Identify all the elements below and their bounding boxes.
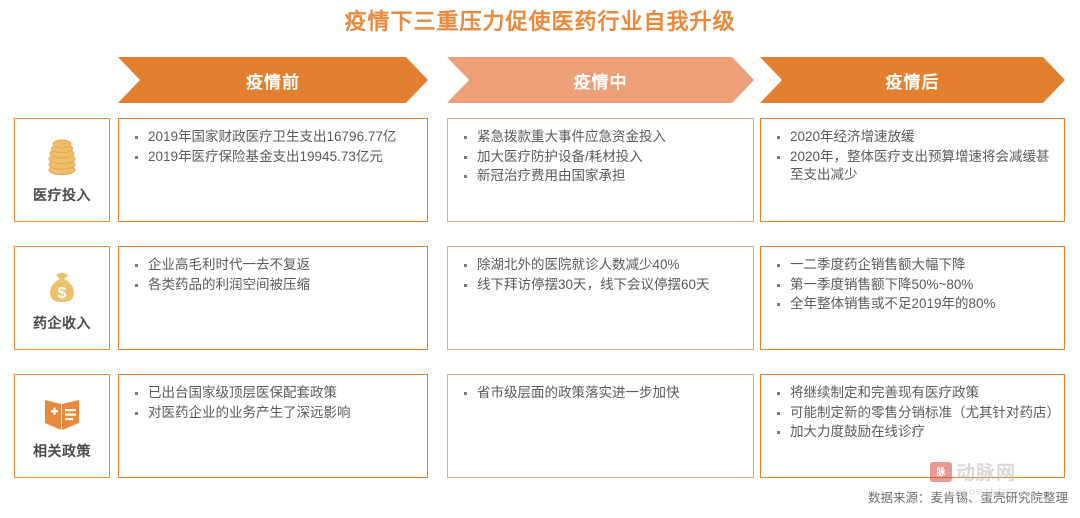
data-source-note: 数据来源：麦肯锡、蛋壳研究院整理 bbox=[868, 487, 1068, 506]
matrix-grid: 医疗投入 2019年国家财政医疗卫生支出16796.77亿 2019年医疗保险基… bbox=[0, 0, 1080, 518]
bullet-item: 新冠治疗费用由国家承担 bbox=[460, 167, 743, 186]
cell-medical-investment-after: 2020年经济增速放缓 2020年，整体医疗支出预算增速将会减缓甚至支出减少 bbox=[760, 118, 1065, 222]
bullet-item: 2019年医疗保险基金支出19945.73亿元 bbox=[131, 148, 417, 167]
cell-pharma-revenue-after: 一二季度药企销售额大幅下降 第一季度销售额下降50%~80% 全年整体销售或不足… bbox=[760, 246, 1065, 350]
svg-text:$: $ bbox=[58, 285, 67, 302]
matrix-row-related-policy: 相关政策 已出台国家级顶层医保配套政策 对医药企业的业务产生了深远影响 省市级层… bbox=[0, 374, 1080, 478]
bullet-item: 对医药企业的业务产生了深远影响 bbox=[131, 404, 417, 423]
row-label-text: 相关政策 bbox=[33, 441, 91, 461]
bullet-item: 线下拜访停摆30天，线下会议停摆60天 bbox=[460, 276, 743, 295]
row-label-text: 医疗投入 bbox=[33, 185, 91, 205]
bullet-item: 将继续制定和完善现有医疗政策 bbox=[773, 384, 1054, 403]
bullet-item: 各类药品的利润空间被压缩 bbox=[131, 276, 417, 295]
bullet-item: 一二季度药企销售额大幅下降 bbox=[773, 256, 1054, 275]
coin-stack-icon bbox=[42, 135, 82, 181]
cell-pharma-revenue-before: 企业高毛利时代一去不复返 各类药品的利润空间被压缩 bbox=[118, 246, 428, 350]
bullet-list: 2020年经济增速放缓 2020年，整体医疗支出预算增速将会减缓甚至支出减少 bbox=[773, 128, 1054, 185]
bullet-item: 加大力度鼓励在线诊疗 bbox=[773, 423, 1054, 442]
matrix-row-pharma-revenue: $ 药企收入 企业高毛利时代一去不复返 各类药品的利润空间被压缩 除湖北外的医院… bbox=[0, 246, 1080, 350]
bullet-list: 已出台国家级顶层医保配套政策 对医药企业的业务产生了深远影响 bbox=[131, 384, 417, 422]
cell-medical-investment-during: 紧急拨款重大事件应急资金投入 加大医疗防护设备/耗材投入 新冠治疗费用由国家承担 bbox=[447, 118, 754, 222]
bullet-list: 2019年国家财政医疗卫生支出16796.77亿 2019年医疗保险基金支出19… bbox=[131, 128, 417, 166]
bullet-list: 一二季度药企销售额大幅下降 第一季度销售额下降50%~80% 全年整体销售或不足… bbox=[773, 256, 1054, 314]
bullet-list: 除湖北外的医院就诊人数减少40% 线下拜访停摆30天，线下会议停摆60天 bbox=[460, 256, 743, 294]
row-label-medical-investment: 医疗投入 bbox=[14, 118, 110, 222]
bullet-item: 企业高毛利时代一去不复返 bbox=[131, 256, 417, 275]
cell-medical-investment-before: 2019年国家财政医疗卫生支出16796.77亿 2019年医疗保险基金支出19… bbox=[118, 118, 428, 222]
bullet-item: 2020年，整体医疗支出预算增速将会减缓甚至支出减少 bbox=[773, 148, 1054, 185]
row-label-pharma-revenue: $ 药企收入 bbox=[14, 246, 110, 350]
bullet-item: 除湖北外的医院就诊人数减少40% bbox=[460, 256, 743, 275]
bullet-list: 紧急拨款重大事件应急资金投入 加大医疗防护设备/耗材投入 新冠治疗费用由国家承担 bbox=[460, 128, 743, 186]
bullet-list: 将继续制定和完善现有医疗政策 可能制定新的零售分销标准（尤其针对药店） 加大力度… bbox=[773, 384, 1054, 442]
bullet-list: 省市级层面的政策落实进一步加快 bbox=[460, 384, 743, 403]
policy-book-icon bbox=[41, 391, 83, 437]
slide-canvas: 疫情下三重压力促使医药行业自我升级 疫情前 疫情中 疫情后 bbox=[0, 0, 1080, 518]
cell-pharma-revenue-during: 除湖北外的医院就诊人数减少40% 线下拜访停摆30天，线下会议停摆60天 bbox=[447, 246, 754, 350]
cell-related-policy-during: 省市级层面的政策落实进一步加快 bbox=[447, 374, 754, 478]
bullet-item: 可能制定新的零售分销标准（尤其针对药店） bbox=[773, 404, 1054, 423]
bullet-item: 加大医疗防护设备/耗材投入 bbox=[460, 148, 743, 167]
bullet-item: 2019年国家财政医疗卫生支出16796.77亿 bbox=[131, 128, 417, 147]
matrix-row-medical-investment: 医疗投入 2019年国家财政医疗卫生支出16796.77亿 2019年医疗保险基… bbox=[0, 118, 1080, 222]
bullet-item: 已出台国家级顶层医保配套政策 bbox=[131, 384, 417, 403]
bullet-item: 紧急拨款重大事件应急资金投入 bbox=[460, 128, 743, 147]
cell-related-policy-before: 已出台国家级顶层医保配套政策 对医药企业的业务产生了深远影响 bbox=[118, 374, 428, 478]
row-label-related-policy: 相关政策 bbox=[14, 374, 110, 478]
bullet-item: 2020年经济增速放缓 bbox=[773, 128, 1054, 147]
bullet-item: 省市级层面的政策落实进一步加快 bbox=[460, 384, 743, 403]
cell-related-policy-after: 将继续制定和完善现有医疗政策 可能制定新的零售分销标准（尤其针对药店） 加大力度… bbox=[760, 374, 1065, 478]
money-bag-icon: $ bbox=[42, 263, 82, 309]
bullet-item: 第一季度销售额下降50%~80% bbox=[773, 276, 1054, 295]
bullet-list: 企业高毛利时代一去不复返 各类药品的利润空间被压缩 bbox=[131, 256, 417, 294]
bullet-item: 全年整体销售或不足2019年的80% bbox=[773, 295, 1054, 314]
row-label-text: 药企收入 bbox=[33, 313, 91, 333]
